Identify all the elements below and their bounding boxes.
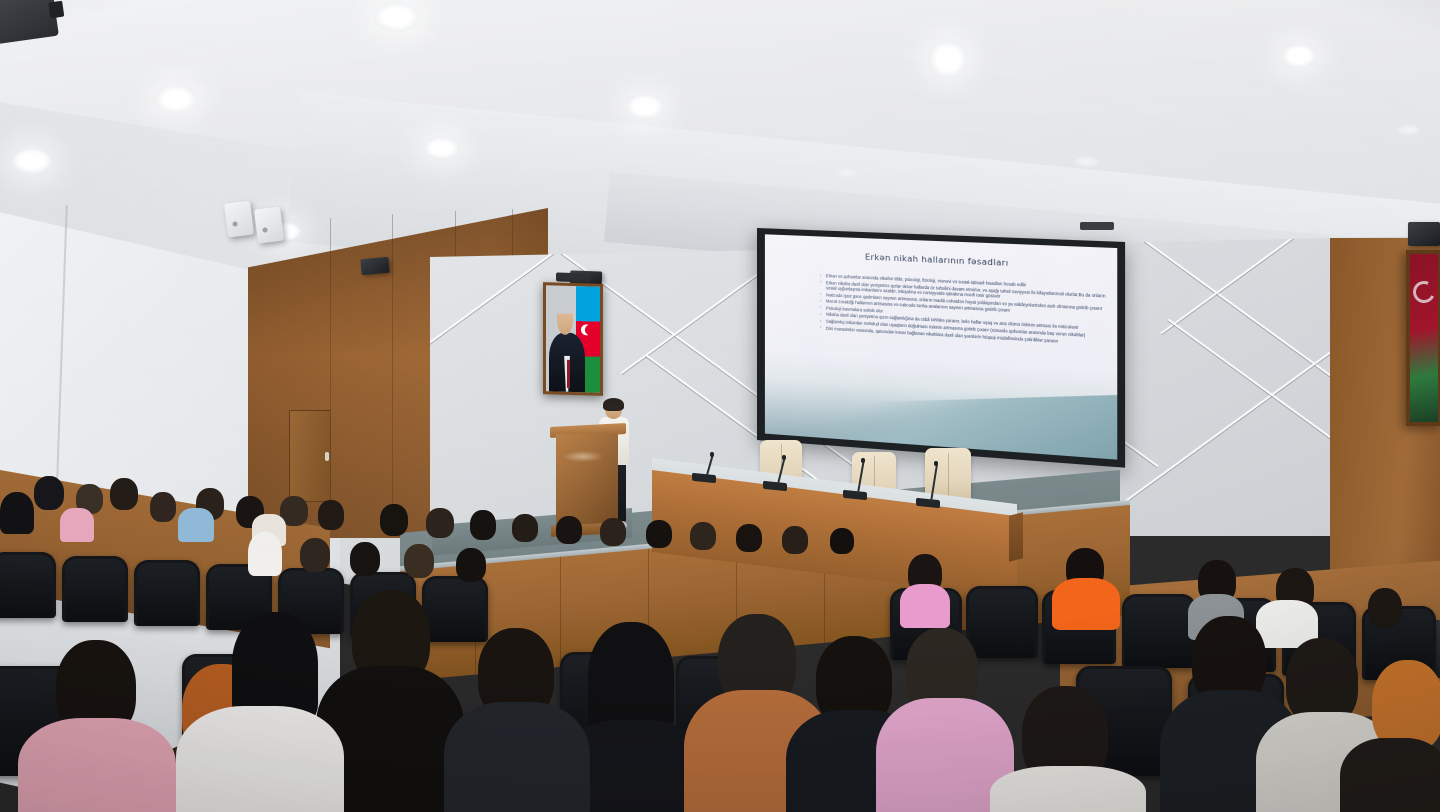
- audience-head: [34, 476, 64, 510]
- audience-person: [1340, 738, 1440, 812]
- auditorium-photo: Erkən nikah hallarının fəsadları Erkən v…: [0, 0, 1440, 812]
- portrait-tie: [567, 360, 571, 388]
- wall-speaker-icon: [224, 201, 254, 238]
- downlight-icon: [1075, 156, 1099, 167]
- portrait-hair: [556, 299, 573, 313]
- framed-azerbaijan-flag: [1406, 250, 1440, 426]
- audience-head: [404, 544, 434, 578]
- downlight-icon: [836, 168, 858, 178]
- dark-speaker-icon: [1408, 222, 1440, 246]
- slide-surface: Erkən nikah hallarının fəsadları Erkən v…: [765, 234, 1117, 459]
- downlight-icon: [1282, 44, 1316, 68]
- downlight-icon: [929, 40, 967, 78]
- eyeglasses-icon: [606, 406, 621, 410]
- audience-head: [300, 538, 330, 572]
- audience-head: [456, 548, 486, 582]
- audience-person: [18, 718, 176, 812]
- crescent-icon: [1410, 278, 1438, 306]
- microphone-head-icon: [710, 452, 714, 457]
- audience-head: [150, 492, 176, 522]
- downlight-icon: [626, 94, 664, 119]
- audience-row: [0, 590, 1440, 812]
- dark-speaker-icon: [360, 257, 389, 275]
- wall-speaker-icon: [254, 207, 284, 244]
- downlight-icon: [1398, 125, 1420, 135]
- door-handle-icon[interactable]: [325, 452, 329, 461]
- slide-title: Erkən nikah hallarının fəsadları: [765, 247, 1117, 272]
- projection-screen: Erkən nikah hallarının fəsadları Erkən v…: [757, 228, 1125, 468]
- downlight-icon: [155, 85, 197, 113]
- audience-person: [990, 766, 1146, 812]
- portrait-heydar-aliyev: [543, 282, 603, 396]
- portrait-lamp-icon: [556, 272, 590, 282]
- audience-seating: [0, 470, 1440, 812]
- microphone-head-icon: [861, 458, 865, 463]
- audience-head: [248, 532, 282, 576]
- downlight-icon: [424, 137, 459, 159]
- audience-head: [110, 478, 138, 510]
- slide-bullet-list: Erkən və qohumlar arasında nikahın tibbi…: [780, 271, 1106, 348]
- audience-person: [176, 706, 344, 812]
- microphone-head-icon: [934, 461, 938, 466]
- audience-head: [350, 542, 380, 576]
- podium-emblem: [563, 451, 603, 462]
- microphone-head-icon: [782, 455, 786, 460]
- downlight-icon: [374, 2, 420, 32]
- screen-mount: [1080, 222, 1114, 230]
- downlight-icon: [12, 148, 52, 174]
- audience-person: [444, 702, 590, 812]
